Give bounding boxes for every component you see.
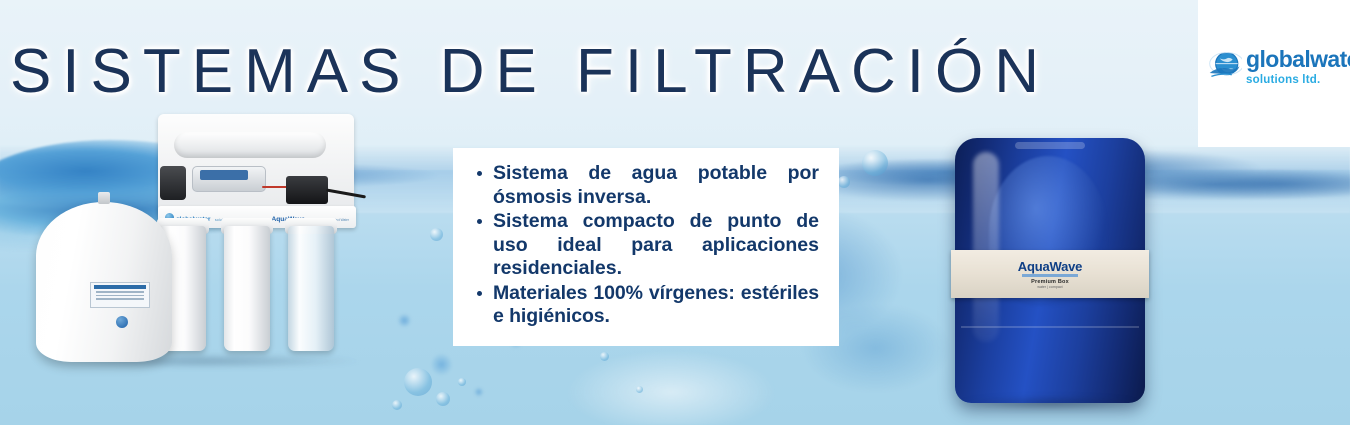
aquawave-brand-underline bbox=[1022, 274, 1078, 277]
ro-pump-label bbox=[200, 170, 248, 180]
brand-tagline: solutions ltd. bbox=[1246, 74, 1320, 86]
label-line bbox=[96, 291, 144, 293]
label-header-bar bbox=[94, 285, 146, 289]
label-line bbox=[96, 295, 144, 297]
product-reverse-osmosis-system: globalwater solutions ltd. AquaWave Clas… bbox=[34, 114, 374, 379]
list-item: Sistema de agua potable por ósmosis inve… bbox=[471, 162, 819, 209]
feature-text: Materiales 100% vírgenes: estériles e hi… bbox=[493, 282, 819, 328]
list-item: Sistema compacto de punto de uso ideal p… bbox=[471, 210, 819, 281]
promotional-banner: SISTEMAS DE FILTRACIÓN Sistema de agua p… bbox=[0, 0, 1350, 425]
brand-name: globalwater bbox=[1246, 46, 1350, 72]
ro-filter-housing bbox=[224, 226, 270, 351]
feature-text: Sistema compacto de punto de uso ideal p… bbox=[493, 210, 819, 279]
globe-icon bbox=[1208, 50, 1242, 84]
aquawave-model-sub: water | compact bbox=[1037, 285, 1062, 289]
ro-wire-red bbox=[262, 186, 288, 188]
features-list: Sistema de agua potable por ósmosis inve… bbox=[471, 162, 819, 329]
brand-logo-text: globalwater solutions ltd. bbox=[1246, 48, 1350, 87]
ro-tank-valve bbox=[116, 316, 128, 328]
aquawave-brand: AquaWave bbox=[1018, 260, 1082, 273]
ro-membrane-housing bbox=[174, 132, 326, 158]
brand-logo-panel: globalwater solutions ltd. bbox=[1198, 0, 1350, 147]
page-title: SISTEMAS DE FILTRACIÓN bbox=[0, 36, 1060, 107]
ro-tank-spec-label bbox=[90, 282, 150, 308]
aquawave-seam bbox=[961, 326, 1139, 328]
ro-tank-fitting bbox=[98, 192, 110, 204]
label-line bbox=[96, 298, 144, 300]
brand-logo: globalwater solutions ltd. bbox=[1208, 48, 1350, 87]
aquawave-label-band: AquaWave Premium Box water | compact bbox=[951, 250, 1149, 298]
list-item: Materiales 100% vírgenes: estériles e hi… bbox=[471, 282, 819, 329]
aquawave-highlight bbox=[973, 152, 999, 342]
ro-filter-housing-clear bbox=[288, 226, 334, 351]
ro-motor bbox=[160, 166, 186, 200]
feature-text: Sistema de agua potable por ósmosis inve… bbox=[493, 162, 819, 208]
aquawave-top-vent bbox=[1015, 142, 1085, 149]
ro-transformer bbox=[286, 176, 328, 204]
product-shadow bbox=[959, 396, 1141, 410]
features-card: Sistema de agua potable por ósmosis inve… bbox=[453, 148, 839, 346]
product-aquawave-premium-box: AquaWave Premium Box water | compact bbox=[955, 138, 1145, 403]
